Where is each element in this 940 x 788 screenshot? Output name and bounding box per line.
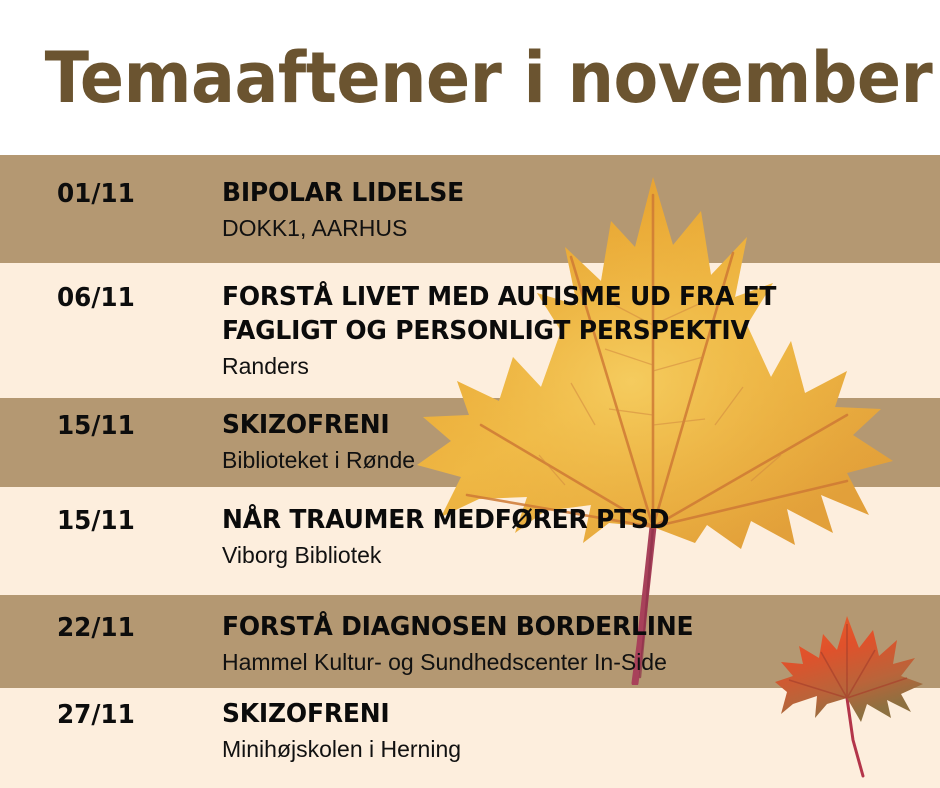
event-title-line: NÅR TRAUMER MEDFØRER PTSD — [222, 503, 911, 537]
event-title-line: BIPOLAR LIDELSE — [222, 176, 911, 210]
event-title-line: FORSTÅ DIAGNOSEN BORDERLINE — [222, 610, 911, 644]
event-title: NÅR TRAUMER MEDFØRER PTSD — [222, 503, 911, 537]
title-area: Temaaftener i november — [0, 0, 940, 155]
event-row: 22/11FORSTÅ DIAGNOSEN BORDERLINEHammel K… — [0, 610, 940, 678]
event-body: SKIZOFRENIMinihøjskolen i Herning — [160, 697, 940, 765]
event-title: SKIZOFRENI — [222, 408, 911, 442]
event-body: SKIZOFRENIBiblioteket i Rønde — [160, 408, 940, 476]
event-date: 27/11 — [0, 697, 152, 733]
event-venue: Biblioteket i Rønde — [222, 444, 940, 476]
event-date: 01/11 — [0, 176, 152, 212]
event-row: 06/11FORSTÅ LIVET MED AUTISME UD FRA ETF… — [0, 280, 940, 382]
event-venue: Minihøjskolen i Herning — [222, 733, 940, 765]
event-title-line: SKIZOFRENI — [222, 697, 911, 731]
event-venue: Hammel Kultur- og Sundhedscenter In-Side — [222, 646, 940, 678]
event-date: 06/11 — [0, 280, 152, 316]
event-body: BIPOLAR LIDELSEDOKK1, AARHUS — [160, 176, 940, 244]
event-title-line: FAGLIGT OG PERSONLIGT PERSPEKTIV — [222, 314, 911, 348]
event-venue: DOKK1, AARHUS — [222, 212, 940, 244]
event-date: 22/11 — [0, 610, 152, 646]
event-row: 01/11BIPOLAR LIDELSEDOKK1, AARHUS — [0, 176, 940, 244]
event-row: 27/11SKIZOFRENIMinihøjskolen i Herning — [0, 697, 940, 765]
event-body: FORSTÅ LIVET MED AUTISME UD FRA ETFAGLIG… — [160, 280, 940, 382]
event-date: 15/11 — [0, 408, 152, 444]
event-row: 15/11NÅR TRAUMER MEDFØRER PTSDViborg Bib… — [0, 503, 940, 571]
event-row: 15/11SKIZOFRENIBiblioteket i Rønde — [0, 408, 940, 476]
event-title: SKIZOFRENI — [222, 697, 911, 731]
event-date: 15/11 — [0, 503, 152, 539]
event-body: NÅR TRAUMER MEDFØRER PTSDViborg Bibliote… — [160, 503, 940, 571]
event-body: FORSTÅ DIAGNOSEN BORDERLINEHammel Kultur… — [160, 610, 940, 678]
event-title-line: FORSTÅ LIVET MED AUTISME UD FRA ET — [222, 280, 911, 314]
event-title: FORSTÅ DIAGNOSEN BORDERLINE — [222, 610, 911, 644]
event-title: FORSTÅ LIVET MED AUTISME UD FRA ETFAGLIG… — [222, 280, 911, 348]
event-venue: Randers — [222, 350, 940, 382]
event-venue: Viborg Bibliotek — [222, 539, 940, 571]
event-title-line: SKIZOFRENI — [222, 408, 911, 442]
event-title: BIPOLAR LIDELSE — [222, 176, 911, 210]
page-title: Temaaftener i november — [0, 43, 932, 113]
poster-canvas: Temaaftener i november 01/11BIPOLAR LIDE… — [0, 0, 940, 788]
